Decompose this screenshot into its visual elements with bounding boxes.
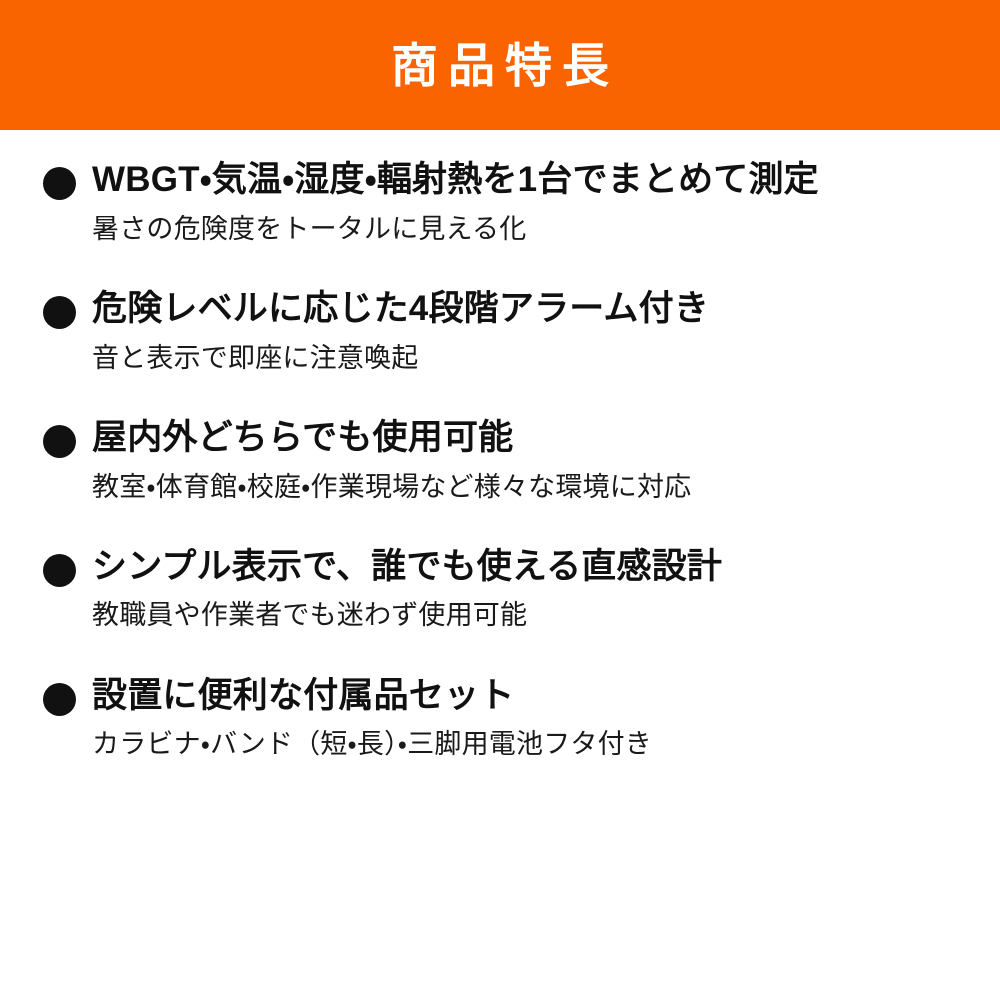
feature-item: シンプル表示で、誰でも使える直感設計 教職員や作業者でも迷わず使用可能 xyxy=(0,545,1000,634)
bullet-dot-icon xyxy=(43,683,76,716)
feature-subtext: カラビナ・バンド（短・長）・三脚用電池フタ付き xyxy=(92,727,1000,762)
feature-subtext: 教職員や作業者でも迷わず使用可能 xyxy=(92,598,1000,633)
feature-headline: WBGT・気温・湿度・輻射熱を1台でまとめて測定 xyxy=(92,158,1000,203)
feature-item: 設置に便利な付属品セット カラビナ・バンド（短・長）・三脚用電池フタ付き xyxy=(0,674,1000,763)
feature-item: WBGT・気温・湿度・輻射熱を1台でまとめて測定 暑さの危険度をトータルに見える… xyxy=(0,158,1000,247)
bullet-dot-icon xyxy=(43,425,76,458)
product-features-header: 商品特長 xyxy=(0,0,1000,130)
feature-headline: 屋内外どちらでも使用可能 xyxy=(92,416,1000,461)
bullet-dot-icon xyxy=(43,167,76,200)
feature-item: 屋内外どちらでも使用可能 教室・体育館・校庭・作業現場など様々な環境に対応 xyxy=(0,416,1000,505)
bullet-dot-icon xyxy=(43,554,76,587)
page-title: 商品特長 xyxy=(381,42,619,89)
feature-subtext: 教室・体育館・校庭・作業現場など様々な環境に対応 xyxy=(92,470,1000,505)
feature-subtext: 音と表示で即座に注意喚起 xyxy=(92,341,1000,376)
feature-item: 危険レベルに応じた4段階アラーム付き 音と表示で即座に注意喚起 xyxy=(0,287,1000,376)
feature-list: WBGT・気温・湿度・輻射熱を1台でまとめて測定 暑さの危険度をトータルに見える… xyxy=(0,158,1000,762)
feature-headline: シンプル表示で、誰でも使える直感設計 xyxy=(92,545,1000,590)
feature-subtext: 暑さの危険度をトータルに見える化 xyxy=(92,212,1000,247)
feature-headline: 危険レベルに応じた4段階アラーム付き xyxy=(92,287,1000,332)
feature-headline: 設置に便利な付属品セット xyxy=(92,674,1000,719)
bullet-dot-icon xyxy=(43,296,76,329)
